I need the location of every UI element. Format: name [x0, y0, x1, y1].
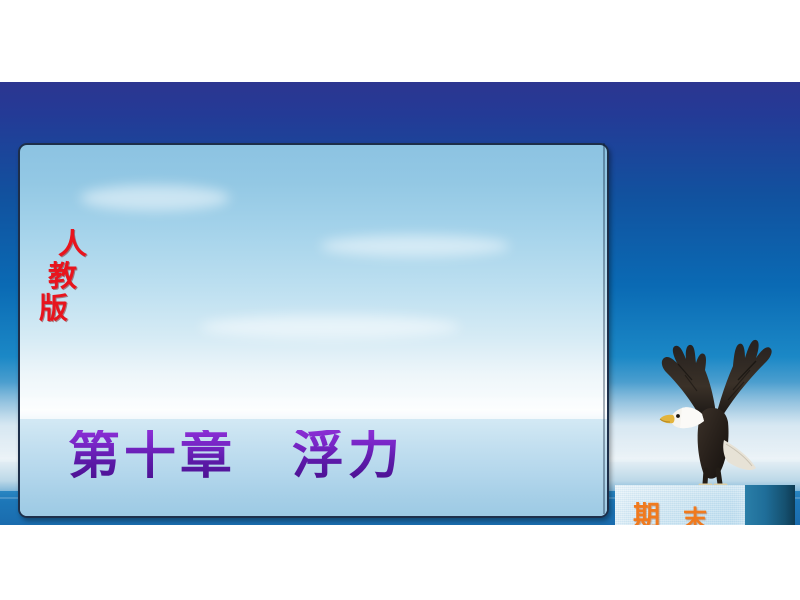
pedestal-char: 末 [683, 507, 707, 525]
pedestal-char: 期 [633, 503, 660, 525]
panel-edge-shadow [603, 143, 605, 514]
publisher-char: 版 [39, 294, 68, 323]
pedestal: 期 末 复 习 [615, 485, 795, 525]
cloud-wisp [80, 185, 230, 211]
publisher-char: 教 [48, 262, 77, 291]
eagle-image [640, 328, 790, 496]
publisher-mark: 人 教 版 [38, 230, 118, 350]
slide-viewer: 人 教 版 第十章 浮力 [0, 0, 800, 600]
presentation-slide: 人 教 版 第十章 浮力 [0, 82, 800, 525]
pedestal-label: 期 末 复 习 [629, 503, 733, 525]
chapter-title: 第十章 浮力 [68, 430, 404, 482]
pedestal-front-face: 期 末 复 习 [615, 485, 745, 525]
cloud-wisp [320, 235, 510, 257]
cloud-wisp [200, 315, 460, 339]
publisher-char: 人 [58, 230, 87, 259]
pedestal-side-face [745, 485, 795, 525]
